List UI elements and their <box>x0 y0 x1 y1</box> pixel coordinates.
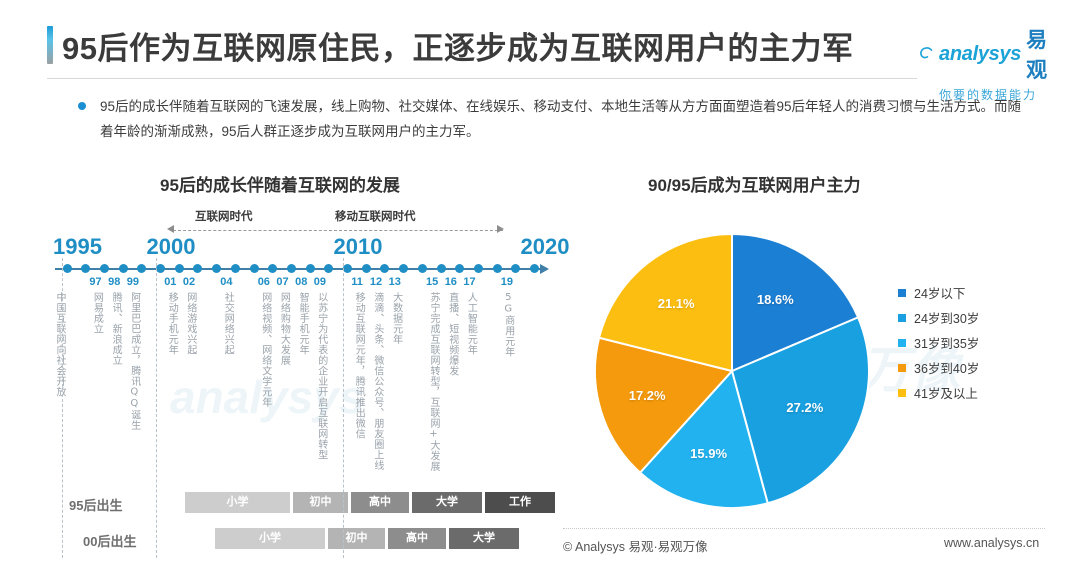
axis-dot <box>437 264 446 273</box>
legend-item[interactable]: 36岁到40岁 <box>898 355 1048 380</box>
milestone-label: 网络游戏兴起 <box>184 292 196 355</box>
legend-swatch-icon <box>898 289 906 297</box>
education-row: 00后出生小学初中高中大学 <box>47 528 562 552</box>
education-row-label: 95后出生 <box>69 495 122 514</box>
axis-dot <box>193 264 202 273</box>
axis-dot <box>455 264 464 273</box>
page-header: 95后作为互联网原住民，正逐步成为互联网用户的主力军 analysys 易观 你… <box>0 0 1080 82</box>
education-row-label: 00后出生 <box>83 531 136 550</box>
education-segment: 高中 <box>351 492 409 513</box>
milestone-label: 以苏宁为代表的企业开启互联网转型 <box>315 292 327 460</box>
footer-copyright: © Analysys 易观·易观万像 <box>563 536 708 555</box>
education-row: 95后出生小学初中高中大学工作 <box>47 492 562 516</box>
milestone-label: 移动手机元年 <box>165 292 177 355</box>
left-chart-title: 95后的成长伴随着互联网的发展 <box>160 171 400 196</box>
axis-dot <box>399 264 408 273</box>
pie-panel: 18.6%27.2%15.9%17.2%21.1% 24岁以下24岁到30岁31… <box>575 200 1045 530</box>
major-year-label: 2020 <box>521 234 570 260</box>
axis-dot <box>175 264 184 273</box>
legend-swatch-icon <box>898 364 906 372</box>
axis-dot <box>324 264 333 273</box>
timeline-separator <box>156 258 157 558</box>
education-segment: 大学 <box>412 492 482 513</box>
legend-label: 24岁到30岁 <box>914 308 979 327</box>
legend-label: 24岁以下 <box>914 283 965 302</box>
axis-dot <box>63 264 72 273</box>
milestone-label: 腾讯、新浪成立 <box>109 292 121 366</box>
legend-swatch-icon <box>898 314 906 322</box>
page-title: 95后作为互联网原住民，正逐步成为互联网用户的主力军 <box>62 23 853 68</box>
era-arrow-right-icon <box>497 225 504 233</box>
timeline-separator <box>62 258 63 558</box>
major-year-labels: 1995200020102020 <box>47 234 562 264</box>
axis-dot <box>362 264 371 273</box>
milestone-label: 5G商用元年 <box>502 292 514 357</box>
axis-dot <box>212 264 221 273</box>
minor-year-labels: 9798990102040607080911121315161719 <box>47 276 562 292</box>
education-segment: 初中 <box>293 492 348 513</box>
milestone-label: 阿里巴巴成立，腾讯QQ诞生 <box>128 292 140 431</box>
minor-year-label: 99 <box>127 276 139 288</box>
education-segment: 小学 <box>185 492 290 513</box>
age-distribution-pie: 18.6%27.2%15.9%17.2%21.1% <box>593 232 871 510</box>
milestone-label: 大数据元年 <box>390 292 402 345</box>
axis-dot <box>137 264 146 273</box>
minor-year-label: 04 <box>220 276 232 288</box>
axis-dot <box>268 264 277 273</box>
legend-item[interactable]: 31岁到35岁 <box>898 330 1048 355</box>
education-segment: 小学 <box>215 528 325 549</box>
era-label-mobile: 移动互联网时代 <box>335 208 416 224</box>
minor-year-label: 01 <box>164 276 176 288</box>
right-chart-title: 90/95后成为互联网用户主力 <box>648 171 861 196</box>
axis-dot <box>119 264 128 273</box>
summary-text: 95后的成长伴随着互联网的飞速发展，线上购物、社交媒体、在线娱乐、移动支付、本地… <box>100 94 1028 144</box>
milestone-label: 智能手机元年 <box>296 292 308 355</box>
pie-legend: 24岁以下24岁到30岁31岁到35岁36岁到40岁41岁及以上 <box>898 280 1048 405</box>
milestone-label: 苏宁完成互联网转型，互联网+大发展 <box>427 292 439 472</box>
education-bars: 95后出生小学初中高中大学工作00后出生小学初中高中大学 <box>47 492 562 562</box>
axis-dot <box>380 264 389 273</box>
education-segment: 大学 <box>449 528 519 549</box>
logo-main-row: analysys 易观 <box>918 24 1058 84</box>
axis-dot <box>343 264 352 273</box>
axis-dot <box>250 264 259 273</box>
era-label-internet: 互联网时代 <box>195 208 253 224</box>
axis-dot <box>306 264 315 273</box>
milestone-label: 网络视频、网络文学元年 <box>259 292 271 408</box>
title-accent-bar <box>47 26 53 64</box>
minor-year-label: 09 <box>314 276 326 288</box>
axis-dot <box>474 264 483 273</box>
minor-year-label: 98 <box>108 276 120 288</box>
summary-bullet: 95后的成长伴随着互联网的飞速发展，线上购物、社交媒体、在线娱乐、移动支付、本地… <box>78 94 1028 144</box>
footer-website: www.analysys.cn <box>944 536 1039 550</box>
axis-line <box>55 268 540 270</box>
era-arrow-left-icon <box>167 225 174 233</box>
education-segment: 工作 <box>485 492 555 513</box>
legend-label: 41岁及以上 <box>914 383 978 402</box>
legend-item[interactable]: 24岁到30岁 <box>898 305 1048 330</box>
timeline-axis <box>55 264 550 274</box>
axis-dot <box>287 264 296 273</box>
minor-year-label: 19 <box>501 276 513 288</box>
timeline-panel: 互联网时代 移动互联网时代 1995200020102020 979899010… <box>47 200 562 560</box>
minor-year-label: 97 <box>89 276 101 288</box>
major-year-label: 2010 <box>334 234 383 260</box>
axis-dot <box>156 264 165 273</box>
footer-divider <box>563 528 1045 530</box>
minor-year-label: 15 <box>426 276 438 288</box>
pie-slice-value: 21.1% <box>658 296 695 311</box>
axis-dot <box>231 264 240 273</box>
minor-year-label: 06 <box>258 276 270 288</box>
minor-year-label: 16 <box>445 276 457 288</box>
slide-page: 95后作为互联网原住民，正逐步成为互联网用户的主力军 analysys 易观 你… <box>0 0 1080 578</box>
pie-slice-value: 27.2% <box>786 400 823 415</box>
axis-arrow-icon <box>540 264 549 274</box>
milestone-label: 人工智能元年 <box>464 292 476 355</box>
pie-slice-value: 18.6% <box>757 292 794 307</box>
minor-year-label: 12 <box>370 276 382 288</box>
education-segment: 高中 <box>388 528 446 549</box>
milestone-labels: 中国互联网向社会开放网易成立腾讯、新浪成立阿里巴巴成立，腾讯QQ诞生移动手机元年… <box>47 292 562 492</box>
axis-dot <box>100 264 109 273</box>
analysys-logo: analysys 易观 你要的数据能力 <box>918 24 1058 70</box>
pie-slice-value: 17.2% <box>629 388 666 403</box>
legend-item[interactable]: 41岁及以上 <box>898 380 1048 405</box>
axis-dot <box>81 264 90 273</box>
minor-year-label: 08 <box>295 276 307 288</box>
minor-year-label: 17 <box>463 276 475 288</box>
minor-year-label: 13 <box>389 276 401 288</box>
milestone-label: 直播、短视频爆发 <box>446 292 458 376</box>
milestone-label: 滴滴、头条、微信公众号、朋友圈上线 <box>371 292 383 471</box>
minor-year-label: 11 <box>351 276 363 288</box>
axis-dot <box>418 264 427 273</box>
major-year-label: 2000 <box>147 234 196 260</box>
milestone-label: 网易成立 <box>90 292 102 334</box>
milestone-label: 移动互联网元年，腾讯推出微信 <box>352 292 364 439</box>
era-range-line <box>173 230 503 232</box>
minor-year-label: 02 <box>183 276 195 288</box>
major-year-label: 1995 <box>53 234 102 260</box>
milestone-label: 中国互联网向社会开放 <box>53 292 65 397</box>
logo-cn-text: 易观 <box>1026 24 1058 84</box>
legend-swatch-icon <box>898 389 906 397</box>
logo-en-text: analysys <box>939 43 1021 66</box>
legend-item[interactable]: 24岁以下 <box>898 280 1048 305</box>
legend-swatch-icon <box>898 339 906 347</box>
legend-label: 36岁到40岁 <box>914 358 979 377</box>
education-segment: 初中 <box>328 528 385 549</box>
bullet-dot-icon <box>78 102 86 110</box>
swirl-icon <box>918 46 934 62</box>
axis-dot <box>493 264 502 273</box>
minor-year-label: 07 <box>276 276 288 288</box>
milestone-label: 社交网络兴起 <box>221 292 233 355</box>
pie-slice-value: 15.9% <box>690 446 727 461</box>
header-divider <box>47 78 917 79</box>
legend-label: 31岁到35岁 <box>914 333 979 352</box>
axis-dot <box>511 264 520 273</box>
milestone-label: 网络购物大发展 <box>277 292 289 366</box>
axis-dot <box>530 264 539 273</box>
timeline-separator <box>343 258 344 558</box>
